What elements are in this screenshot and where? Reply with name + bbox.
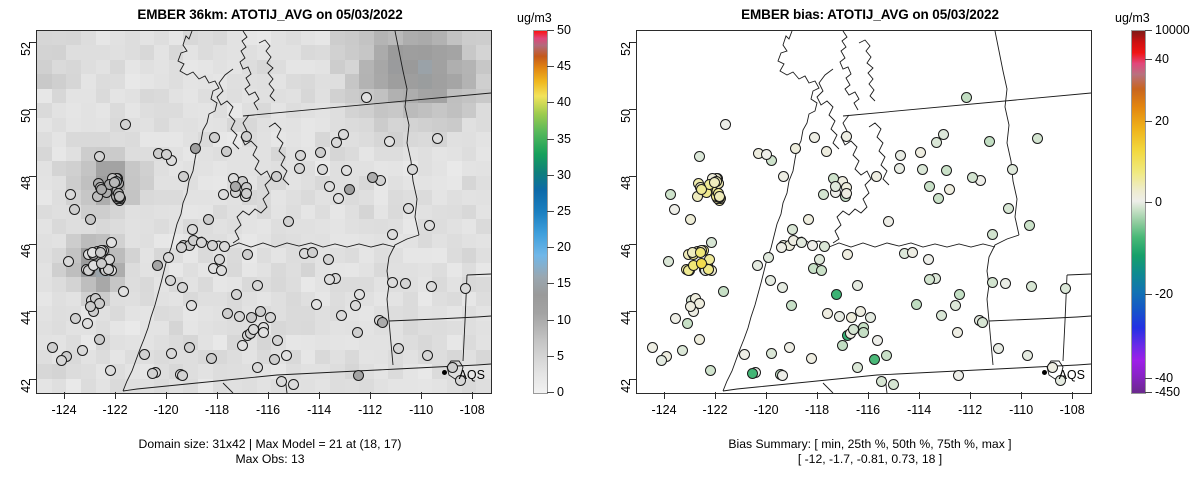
model-site-marker[interactable] [96, 184, 107, 195]
model-site-marker[interactable] [269, 354, 280, 365]
bias-site-marker[interactable] [778, 171, 789, 182]
colorbar-tick-label: 50 [557, 23, 571, 37]
model-site-marker[interactable] [271, 171, 282, 182]
y-tick-label: 46 [619, 244, 633, 258]
bias-site-marker[interactable] [837, 340, 848, 351]
bias-site-marker[interactable] [1026, 281, 1037, 292]
bias-site-marker[interactable] [682, 318, 693, 329]
model-map-plot[interactable]: AQS [36, 30, 492, 394]
model-site-marker[interactable] [178, 171, 189, 182]
model-site-marker[interactable] [288, 379, 299, 390]
bias-site-marker[interactable] [1022, 350, 1033, 361]
bias-site-marker[interactable] [776, 242, 787, 253]
x-tick [319, 392, 320, 399]
model-site-marker[interactable] [315, 147, 326, 158]
bias-site-marker[interactable] [709, 177, 720, 188]
model-site-marker[interactable] [163, 252, 174, 263]
x-tick-label: -108 [1060, 403, 1085, 417]
bias-site-marker[interactable] [807, 240, 818, 251]
colorbar-tick-label: 25 [557, 204, 571, 218]
bias-x-axis: -124-122-120-118-116-114-112-110-108 [636, 392, 1090, 432]
colorbar-tick-label: 40 [557, 95, 571, 109]
x-tick [970, 392, 971, 399]
bias-site-marker[interactable] [888, 379, 899, 390]
x-tick-label: -124 [52, 403, 77, 417]
colorbar-tick [547, 356, 554, 357]
bias-site-marker[interactable] [822, 308, 833, 319]
bias-site-marker[interactable] [765, 275, 776, 286]
model-site-marker[interactable] [184, 342, 195, 353]
model-site-marker[interactable] [323, 254, 334, 265]
colorbar-tick-label: 5 [557, 349, 564, 363]
bias-site-marker[interactable] [818, 189, 829, 200]
colorbar-tick-label: 10 [557, 313, 571, 327]
model-site-marker[interactable] [276, 376, 287, 387]
colorbar-tick [1145, 59, 1152, 60]
bias-site-marker[interactable] [881, 350, 892, 361]
model-site-marker[interactable] [231, 289, 242, 300]
model-caption-line1: Domain size: 31x42 | Max Model = 21 at (… [0, 437, 540, 452]
bias-site-marker[interactable] [953, 370, 964, 381]
colorbar-tick [1145, 202, 1152, 203]
x-tick-label: -116 [856, 403, 880, 417]
model-site-marker[interactable] [258, 327, 269, 338]
x-tick [370, 392, 371, 399]
y-tick-label: 42 [19, 379, 33, 393]
model-site-marker[interactable] [265, 312, 276, 323]
colorbar-tick-label: -20 [1155, 287, 1173, 301]
x-tick [268, 392, 269, 399]
model-site-marker[interactable] [95, 247, 106, 258]
colorbar-tick-label: 15 [557, 276, 571, 290]
model-site-marker[interactable] [324, 181, 335, 192]
bias-colorbar-unit: ug/m3 [1115, 11, 1150, 25]
x-tick-label: -110 [409, 403, 433, 417]
x-tick-label: -112 [358, 403, 382, 417]
model-site-marker[interactable] [63, 256, 74, 267]
colorbar-tick [1145, 121, 1152, 122]
bias-site-marker[interactable] [876, 376, 887, 387]
model-panel: EMBER 36km: ATOTIJ_AVG on 05/03/2022 [0, 0, 600, 479]
bias-site-marker[interactable] [936, 310, 947, 321]
bias-site-marker[interactable] [1000, 278, 1011, 289]
x-tick-label: -124 [652, 403, 677, 417]
x-tick-label: -114 [307, 403, 331, 417]
bias-site-marker[interactable] [809, 132, 820, 143]
model-site-marker[interactable] [82, 318, 93, 329]
bias-site-marker[interactable] [695, 247, 706, 258]
model-site-marker[interactable] [361, 92, 372, 103]
model-site-marker[interactable] [283, 216, 294, 227]
colorbar-tick [1145, 378, 1152, 379]
bias-site-marker[interactable] [1003, 203, 1014, 214]
bias-site-marker[interactable] [977, 317, 988, 328]
colorbar-tick-label: -450 [1155, 385, 1180, 399]
bias-site-marker[interactable] [852, 280, 863, 291]
colorbar-tick-label: 20 [1155, 114, 1169, 128]
x-tick [166, 392, 167, 399]
x-tick-label: -122 [703, 403, 728, 417]
y-tick-label: 48 [19, 176, 33, 190]
bias-panel: EMBER bias: ATOTIJ_AVG on 05/03/2022 [600, 0, 1200, 479]
model-caption: Domain size: 31x42 | Max Model = 21 at (… [0, 437, 540, 467]
bias-site-marker[interactable] [752, 260, 763, 271]
bias-map-plot[interactable]: AQS [636, 30, 1092, 394]
model-site-marker[interactable] [384, 136, 395, 147]
model-site-marker[interactable] [109, 177, 120, 188]
model-site-marker[interactable] [241, 131, 252, 142]
model-site-marker[interactable] [186, 300, 197, 311]
model-site-marker[interactable] [403, 203, 414, 214]
model-site-marker[interactable] [106, 237, 117, 248]
model-site-marker[interactable] [177, 282, 188, 293]
bias-site-marker[interactable] [987, 277, 998, 288]
bias-site-marker[interactable] [895, 150, 906, 161]
bias-site-marker[interactable] [1007, 164, 1018, 175]
model-y-axis: 424446485052 [0, 30, 36, 392]
model-site-marker[interactable] [85, 301, 96, 312]
model-site-marker[interactable] [216, 265, 227, 276]
bias-site-marker[interactable] [739, 349, 750, 360]
colorbar-tick-label: 10000 [1155, 23, 1190, 37]
model-site-marker[interactable] [94, 334, 105, 345]
model-site-marker[interactable] [94, 151, 105, 162]
model-site-marker[interactable] [187, 224, 198, 235]
bias-site-marker[interactable] [677, 345, 688, 356]
bias-y-axis: 424446485052 [600, 30, 636, 392]
bias-site-marker[interactable] [855, 306, 866, 317]
colorbar-tick [547, 30, 554, 31]
model-site-marker[interactable] [281, 350, 292, 361]
colorbar-tick [1145, 30, 1152, 31]
y-tick-label: 50 [619, 109, 633, 123]
model-site-marker[interactable] [206, 353, 217, 364]
x-tick-label: -118 [805, 403, 829, 417]
model-site-marker[interactable] [354, 289, 365, 300]
bias-site-marker[interactable] [858, 327, 869, 338]
model-site-marker[interactable] [166, 348, 177, 359]
model-site-marker[interactable] [221, 146, 232, 157]
bias-site-marker[interactable] [718, 286, 729, 297]
colorbar-tick [547, 247, 554, 248]
colorbar-tick [547, 211, 554, 212]
bias-site-marker[interactable] [796, 237, 807, 248]
bias-site-marker[interactable] [816, 265, 827, 276]
bias-site-marker[interactable] [984, 136, 995, 147]
model-site-marker[interactable] [333, 193, 344, 204]
bias-site-marker[interactable] [915, 147, 926, 158]
aqs-legend-dot [442, 370, 447, 375]
bias-site-marker[interactable] [831, 289, 842, 300]
bias-site-marker[interactable] [987, 229, 998, 240]
bias-site-marker[interactable] [944, 184, 955, 195]
model-site-marker[interactable] [311, 299, 322, 310]
x-tick [919, 392, 920, 399]
model-site-marker[interactable] [426, 281, 437, 292]
bias-site-marker[interactable] [685, 301, 696, 312]
bias-site-marker[interactable] [814, 254, 825, 265]
x-tick [115, 392, 116, 399]
x-tick [1021, 392, 1022, 399]
bias-site-marker[interactable] [842, 249, 853, 260]
bias-site-marker[interactable] [938, 129, 949, 140]
model-site-marker[interactable] [77, 345, 88, 356]
model-site-marker[interactable] [460, 283, 471, 294]
colorbar-tick-label: 0 [1155, 195, 1162, 209]
y-tick-label: 52 [619, 42, 633, 56]
x-tick [766, 392, 767, 399]
model-site-marker[interactable] [96, 258, 107, 269]
bias-site-marker[interactable] [763, 252, 774, 263]
x-tick-label: -112 [958, 403, 982, 417]
bias-site-marker[interactable] [852, 362, 863, 373]
model-site-marker[interactable] [352, 327, 363, 338]
bias-site-marker[interactable] [694, 334, 705, 345]
x-tick-label: -120 [154, 403, 179, 417]
x-tick-label: -122 [103, 403, 128, 417]
model-site-marker[interactable] [400, 278, 411, 289]
y-tick-label: 44 [19, 311, 33, 325]
model-site-marker[interactable] [317, 164, 328, 175]
model-site-marker[interactable] [294, 163, 305, 174]
aqs-legend-label: AQS [459, 368, 485, 382]
bias-panel-title: EMBER bias: ATOTIJ_AVG on 05/03/2022 [600, 7, 1140, 22]
model-site-marker[interactable] [207, 240, 218, 251]
colorbar-tick-label: 45 [557, 59, 571, 73]
model-site-marker[interactable] [272, 335, 283, 346]
model-site-marker[interactable] [377, 317, 388, 328]
model-site-marker[interactable] [407, 164, 418, 175]
bias-site-marker[interactable] [720, 119, 731, 130]
x-tick [868, 392, 869, 399]
y-tick-label: 42 [619, 379, 633, 393]
x-tick-label: -108 [460, 403, 485, 417]
bias-site-marker[interactable] [917, 164, 928, 175]
bias-site-marker[interactable] [950, 300, 961, 311]
colorbar-tick-label: -40 [1155, 371, 1173, 385]
bias-site-marker[interactable] [696, 184, 707, 195]
model-site-marker[interactable] [218, 189, 229, 200]
bias-caption: Bias Summary: [ min, 25th %, 50th %, 75t… [600, 437, 1140, 467]
model-site-marker[interactable] [139, 349, 150, 360]
model-colorbar-unit: ug/m3 [517, 11, 552, 25]
bias-site-marker[interactable] [685, 214, 696, 225]
bias-site-marker[interactable] [952, 327, 963, 338]
model-site-marker[interactable] [344, 184, 355, 195]
colorbar-tick-label: 30 [557, 168, 571, 182]
x-tick [64, 392, 65, 399]
colorbar-tick [547, 320, 554, 321]
x-tick [817, 392, 818, 399]
model-site-marker[interactable] [56, 355, 67, 366]
x-tick-label: -116 [256, 403, 280, 417]
model-site-marker[interactable] [353, 370, 364, 381]
model-site-marker[interactable] [432, 133, 443, 144]
bias-site-marker[interactable] [872, 335, 883, 346]
bias-site-marker[interactable] [787, 224, 798, 235]
x-tick-label: -110 [1009, 403, 1033, 417]
bias-site-marker[interactable] [777, 282, 788, 293]
bias-colorbar-gradient [1131, 30, 1146, 394]
model-site-marker[interactable] [242, 249, 253, 260]
bias-site-marker[interactable] [696, 258, 707, 269]
model-site-marker[interactable] [69, 204, 80, 215]
bias-caption-line1: Bias Summary: [ min, 25th %, 50th %, 75t… [600, 437, 1140, 452]
bias-observation-points[interactable] [637, 31, 1091, 393]
model-site-marker[interactable] [252, 280, 263, 291]
colorbar-tick [1145, 294, 1152, 295]
bias-site-marker[interactable] [656, 355, 667, 366]
x-tick [715, 392, 716, 399]
model-site-marker[interactable] [176, 242, 187, 253]
model-caption-line2: Max Obs: 13 [0, 452, 540, 467]
bias-site-marker[interactable] [821, 146, 832, 157]
model-site-marker[interactable] [196, 237, 207, 248]
model-site-marker[interactable] [338, 129, 349, 140]
bias-site-marker[interactable] [954, 289, 965, 300]
model-site-marker[interactable] [237, 340, 248, 351]
bias-site-marker[interactable] [871, 171, 882, 182]
model-colorbar-gradient [533, 30, 548, 394]
bias-caption-line2: [ -12, -1.7, -0.81, 0.73, 18 ] [600, 452, 1140, 467]
x-tick-label: -114 [907, 403, 931, 417]
model-panel-title: EMBER 36km: ATOTIJ_AVG on 05/03/2022 [0, 7, 540, 22]
model-site-marker[interactable] [393, 343, 404, 354]
bias-site-marker[interactable] [806, 353, 817, 364]
aqs-legend-dot [1042, 370, 1047, 375]
model-site-marker[interactable] [105, 365, 116, 376]
x-tick [217, 392, 218, 399]
bias-site-marker[interactable] [1032, 133, 1043, 144]
bias-site-marker[interactable] [777, 370, 788, 381]
bias-site-marker[interactable] [907, 247, 918, 258]
bias-site-marker[interactable] [941, 165, 952, 176]
bias-site-marker[interactable] [819, 241, 830, 252]
model-site-marker[interactable] [234, 311, 245, 322]
bias-site-marker[interactable] [694, 151, 705, 162]
model-site-marker[interactable] [209, 132, 220, 143]
model-site-marker[interactable] [341, 165, 352, 176]
y-tick-label: 46 [19, 244, 33, 258]
colorbar-tick [547, 175, 554, 176]
bias-site-marker[interactable] [993, 343, 1004, 354]
colorbar-tick [1145, 392, 1152, 393]
model-site-marker[interactable] [177, 370, 188, 381]
model-site-marker[interactable] [214, 254, 225, 265]
model-site-marker[interactable] [165, 275, 176, 286]
model-site-marker[interactable] [255, 306, 266, 317]
model-site-marker[interactable] [424, 220, 435, 231]
model-site-marker[interactable] [222, 308, 233, 319]
model-site-marker[interactable] [307, 247, 318, 258]
colorbar-tick-label: 35 [557, 132, 571, 146]
bias-site-marker[interactable] [1060, 283, 1071, 294]
model-site-marker[interactable] [152, 260, 163, 271]
model-site-marker[interactable] [47, 342, 58, 353]
colorbar-tick [547, 102, 554, 103]
aqs-legend-label: AQS [1059, 368, 1085, 382]
model-site-marker[interactable] [190, 143, 201, 154]
bias-site-marker[interactable] [1047, 362, 1058, 373]
model-site-marker[interactable] [295, 150, 306, 161]
x-tick-label: -118 [205, 403, 229, 417]
bias-site-marker[interactable] [665, 189, 676, 200]
colorbar-tick [547, 392, 554, 393]
model-site-marker[interactable] [447, 362, 458, 373]
bias-site-marker[interactable] [924, 181, 935, 192]
model-site-marker[interactable] [219, 241, 230, 252]
bias-site-marker[interactable] [705, 365, 716, 376]
model-site-marker[interactable] [203, 214, 214, 225]
bias-site-marker[interactable] [830, 181, 841, 192]
bias-site-marker[interactable] [841, 131, 852, 142]
bias-site-marker[interactable] [961, 92, 972, 103]
model-site-marker[interactable] [118, 286, 129, 297]
model-x-axis: -124-122-120-118-116-114-112-110-108 [36, 392, 490, 432]
model-site-marker[interactable] [70, 313, 81, 324]
bias-site-marker[interactable] [1024, 220, 1035, 231]
bias-site-marker[interactable] [670, 313, 681, 324]
y-tick-label: 44 [619, 311, 633, 325]
bias-site-marker[interactable] [663, 256, 674, 267]
x-tick-label: -120 [754, 403, 779, 417]
bias-site-marker[interactable] [669, 204, 680, 215]
bias-site-marker[interactable] [834, 311, 845, 322]
model-site-marker[interactable] [230, 181, 241, 192]
colorbar-tick-label: 20 [557, 240, 571, 254]
colorbar-tick [547, 139, 554, 140]
bias-site-marker[interactable] [869, 354, 880, 365]
x-tick [421, 392, 422, 399]
y-tick-label: 52 [19, 42, 33, 56]
bias-site-marker[interactable] [786, 300, 797, 311]
model-site-marker[interactable] [387, 229, 398, 240]
x-tick [472, 392, 473, 399]
colorbar-tick-label: 0 [557, 385, 564, 399]
bias-site-marker[interactable] [894, 163, 905, 174]
model-observation-points[interactable] [37, 31, 491, 393]
model-site-marker[interactable] [85, 214, 96, 225]
colorbar-tick [547, 66, 554, 67]
model-site-marker[interactable] [336, 310, 347, 321]
bias-site-marker[interactable] [883, 216, 894, 227]
model-site-marker[interactable] [252, 362, 263, 373]
bias-site-marker[interactable] [784, 342, 795, 353]
model-site-marker[interactable] [350, 300, 361, 311]
bias-site-marker[interactable] [933, 193, 944, 204]
model-site-marker[interactable] [65, 189, 76, 200]
colorbar-tick-label: 40 [1155, 52, 1169, 66]
model-site-marker[interactable] [387, 277, 398, 288]
model-site-marker[interactable] [422, 350, 433, 361]
x-tick [664, 392, 665, 399]
colorbar-tick [547, 283, 554, 284]
y-tick-label: 50 [19, 109, 33, 123]
bias-site-marker[interactable] [706, 237, 717, 248]
bias-site-marker[interactable] [865, 312, 876, 323]
bias-site-marker[interactable] [790, 143, 801, 154]
bias-site-marker[interactable] [647, 342, 658, 353]
bias-site-marker[interactable] [911, 299, 922, 310]
bias-site-marker[interactable] [803, 214, 814, 225]
bias-site-marker[interactable] [923, 254, 934, 265]
bias-site-marker[interactable] [766, 348, 777, 359]
model-site-marker[interactable] [120, 119, 131, 130]
y-tick-label: 48 [619, 176, 633, 190]
x-tick [1072, 392, 1073, 399]
